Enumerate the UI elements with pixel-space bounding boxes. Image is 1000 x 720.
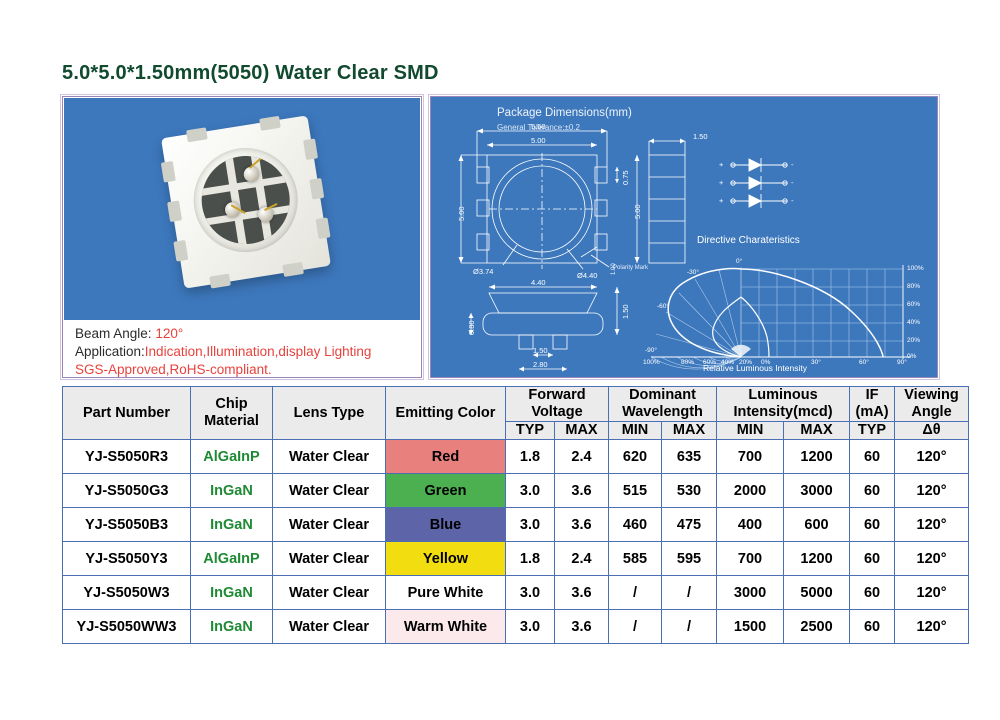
certification-text: SGS-Approved,RoHS-compliant. (75, 361, 272, 379)
cell-iv-min: 400 (717, 508, 784, 542)
cell-chip-material: InGaN (191, 508, 273, 542)
header-lens-type: Lens Type (273, 387, 386, 440)
header-angle-symbol: Δθ (895, 422, 969, 440)
circuit-minus-3: - (791, 196, 794, 205)
dim-bottom-gap: 1.50 (533, 346, 548, 355)
cell-iv-max: 1200 (784, 542, 850, 576)
intensity-tick-right-40: 40% (907, 319, 920, 326)
cell-if-typ: 60 (850, 474, 895, 508)
led-circuit-schematic (731, 158, 787, 208)
cell-wl-max: 475 (662, 508, 717, 542)
cell-iv-max: 1200 (784, 440, 850, 474)
cell-lens-type: Water Clear (273, 610, 386, 644)
package-dimension-drawing (431, 97, 939, 379)
cell-vf-typ: 1.8 (506, 542, 555, 576)
cell-chip-material: InGaN (191, 474, 273, 508)
cell-vf-max: 3.6 (555, 610, 609, 644)
cell-viewing-angle: 120° (895, 474, 969, 508)
cell-wl-min: / (609, 610, 662, 644)
table-row: YJ-S5050WW3InGaNWater ClearWarm White3.0… (63, 610, 969, 644)
led-die-area (195, 150, 296, 251)
cell-emitting-color: Warm White (386, 610, 506, 644)
cell-iv-min: 700 (717, 440, 784, 474)
dim-top-inner: 5.00 (531, 136, 546, 145)
table-row: YJ-S5050Y3AlGaInPWater ClearYellow1.82.4… (63, 542, 969, 576)
header-if-typ: TYP (850, 422, 895, 440)
polarity-mark-label: Polarity Mark (613, 265, 648, 271)
cell-wl-min: 460 (609, 508, 662, 542)
cell-lens-type: Water Clear (273, 474, 386, 508)
cell-iv-max: 3000 (784, 474, 850, 508)
header-if-ma: IF (mA) (850, 387, 895, 422)
cell-viewing-angle: 120° (895, 576, 969, 610)
cell-vf-max: 3.6 (555, 508, 609, 542)
intensity-tick-left-60: 60% (703, 359, 716, 366)
intensity-tick-right-60: 60% (907, 301, 920, 308)
directive-characteristics-chart (651, 265, 911, 369)
circuit-plus-1: + (719, 160, 723, 169)
cell-chip-material: InGaN (191, 610, 273, 644)
specification-table: Part Number Chip Material Lens Type Emit… (62, 386, 969, 644)
dim-pad-pitch: 0.75 (621, 170, 630, 185)
cell-chip-material: AlGaInP (191, 440, 273, 474)
dim-dia-inner: Ø3.74 (473, 267, 493, 276)
dim-side-height: 5.00 (633, 204, 642, 219)
cell-vf-typ: 3.0 (506, 508, 555, 542)
angle-tick-30: 30° (811, 359, 821, 366)
cell-vf-max: 2.4 (555, 440, 609, 474)
circuit-plus-3: + (719, 196, 723, 205)
cell-iv-max: 5000 (784, 576, 850, 610)
table-header-row-1: Part Number Chip Material Lens Type Emit… (63, 387, 969, 422)
cell-lens-type: Water Clear (273, 576, 386, 610)
cell-vf-max: 3.6 (555, 576, 609, 610)
beam-angle-label: Beam Angle: (75, 326, 152, 341)
beam-angle-value: 120° (155, 326, 183, 341)
dim-top-outer: 5.50 (531, 122, 546, 131)
cell-viewing-angle: 120° (895, 610, 969, 644)
cell-emitting-color: Red (386, 440, 506, 474)
cell-wl-min: 515 (609, 474, 662, 508)
intensity-tick-right-0: 0% (907, 353, 916, 360)
table-body: YJ-S5050R3AlGaInPWater ClearRed1.82.4620… (63, 440, 969, 644)
intensity-tick-left-80: 80% (681, 359, 694, 366)
header-iv-min: MIN (717, 422, 784, 440)
cell-wl-min: 585 (609, 542, 662, 576)
header-dominant-wavelength: Dominant Wavelength (609, 387, 717, 422)
cell-vf-max: 3.6 (555, 474, 609, 508)
cell-vf-max: 2.4 (555, 542, 609, 576)
spec-text-block: Beam Angle: 120° Application:Indication,… (63, 321, 421, 377)
cell-if-typ: 60 (850, 508, 895, 542)
cell-wl-min: / (609, 576, 662, 610)
dim-height-left: 5.00 (457, 206, 466, 221)
table-row: YJ-S5050W3InGaNWater ClearPure White3.03… (63, 576, 969, 610)
header-emitting-color: Emitting Color (386, 387, 506, 440)
cell-iv-min: 3000 (717, 576, 784, 610)
cell-vf-typ: 1.8 (506, 440, 555, 474)
table-row: YJ-S5050R3AlGaInPWater ClearRed1.82.4620… (63, 440, 969, 474)
product-photo-panel: Beam Angle: 120° Application:Indication,… (62, 96, 422, 378)
led-reflector-cup (186, 141, 305, 260)
header-vf-typ: TYP (506, 422, 555, 440)
cell-emitting-color: Pure White (386, 576, 506, 610)
cell-wl-max: 635 (662, 440, 717, 474)
intensity-tick-right-20: 20% (907, 337, 920, 344)
cell-part-number: YJ-S5050G3 (63, 474, 191, 508)
page-title: 5.0*5.0*1.50mm(5050) Water Clear SMD (62, 62, 439, 85)
cell-iv-min: 1500 (717, 610, 784, 644)
cell-wl-max: / (662, 576, 717, 610)
cell-wl-min: 620 (609, 440, 662, 474)
cell-viewing-angle: 120° (895, 542, 969, 576)
cell-vf-typ: 3.0 (506, 576, 555, 610)
cell-emitting-color: Green (386, 474, 506, 508)
cell-wl-max: 530 (662, 474, 717, 508)
header-viewing-angle: Viewing Angle (895, 387, 969, 422)
dim-bottom-base: 0.80 (467, 320, 476, 335)
cell-emitting-color: Blue (386, 508, 506, 542)
cell-vf-typ: 3.0 (506, 474, 555, 508)
package-drawing-panel: Package Dimensions(mm) General Tolerance… (430, 96, 938, 378)
cell-emitting-color: Yellow (386, 542, 506, 576)
header-vf-max: MAX (555, 422, 609, 440)
datasheet-page: 5.0*5.0*1.50mm(5050) Water Clear SMD (0, 0, 1000, 720)
angle-tick-90: 90° (897, 359, 907, 366)
chart-title: Directive Charateristics (697, 235, 800, 246)
angle-tick-m90: -90° (645, 347, 657, 354)
intensity-tick-left-100: 100% (643, 359, 660, 366)
intensity-tick-left-0: 0% (761, 359, 770, 366)
cell-part-number: YJ-S5050B3 (63, 508, 191, 542)
cell-iv-min: 2000 (717, 474, 784, 508)
table-row: YJ-S5050G3InGaNWater ClearGreen3.03.6515… (63, 474, 969, 508)
header-wl-min: MIN (609, 422, 662, 440)
dim-dia-outer: Ø4.40 (577, 271, 597, 280)
cell-part-number: YJ-S5050W3 (63, 576, 191, 610)
chart-xlabel: Relative Luminous Intensity (703, 363, 807, 373)
circuit-plus-2: + (719, 178, 723, 187)
angle-tick-60: 60° (859, 359, 869, 366)
dim-side-width: 1.50 (693, 132, 708, 141)
cell-viewing-angle: 120° (895, 440, 969, 474)
header-wl-max: MAX (662, 422, 717, 440)
cell-lens-type: Water Clear (273, 440, 386, 474)
cell-wl-max: / (662, 610, 717, 644)
cell-lens-type: Water Clear (273, 508, 386, 542)
cell-if-typ: 60 (850, 542, 895, 576)
cell-iv-max: 600 (784, 508, 850, 542)
intensity-tick-right-80: 80% (907, 283, 920, 290)
header-luminous-intensity: Luminous Intensity(mcd) (717, 387, 850, 422)
cell-part-number: YJ-S5050WW3 (63, 610, 191, 644)
led-package-body (161, 115, 331, 288)
circuit-minus-1: - (791, 160, 794, 169)
dim-bottom-span: 2.80 (533, 360, 548, 369)
cell-viewing-angle: 120° (895, 508, 969, 542)
cell-chip-material: AlGaInP (191, 542, 273, 576)
dim-bottom-width: 4.40 (531, 278, 546, 287)
led-product-photo (64, 98, 420, 320)
header-part-number: Part Number (63, 387, 191, 440)
angle-tick-0: 0° (736, 258, 742, 265)
table-row: YJ-S5050B3InGaNWater ClearBlue3.03.64604… (63, 508, 969, 542)
cell-if-typ: 60 (850, 610, 895, 644)
header-forward-voltage: Forward Voltage (506, 387, 609, 422)
circuit-minus-2: - (791, 178, 794, 187)
application-value: Indication,Illumination,display Lighting (145, 344, 372, 359)
cell-iv-min: 700 (717, 542, 784, 576)
cell-part-number: YJ-S5050R3 (63, 440, 191, 474)
header-chip-material: Chip Material (191, 387, 273, 440)
cell-iv-max: 2500 (784, 610, 850, 644)
cell-if-typ: 60 (850, 576, 895, 610)
cell-vf-typ: 3.0 (506, 610, 555, 644)
cell-lens-type: Water Clear (273, 542, 386, 576)
angle-tick-m60: -60° (657, 303, 669, 310)
angle-tick-m30: -30° (687, 269, 699, 276)
intensity-tick-right-100: 100% (907, 265, 924, 272)
cell-chip-material: InGaN (191, 576, 273, 610)
cell-part-number: YJ-S5050Y3 (63, 542, 191, 576)
dim-bottom-height: 1.50 (621, 304, 630, 319)
application-label: Application: (75, 344, 145, 359)
header-iv-max: MAX (784, 422, 850, 440)
cell-if-typ: 60 (850, 440, 895, 474)
intensity-tick-left-20: 20% (739, 359, 752, 366)
cell-wl-max: 595 (662, 542, 717, 576)
intensity-tick-left-40: 40% (721, 359, 734, 366)
